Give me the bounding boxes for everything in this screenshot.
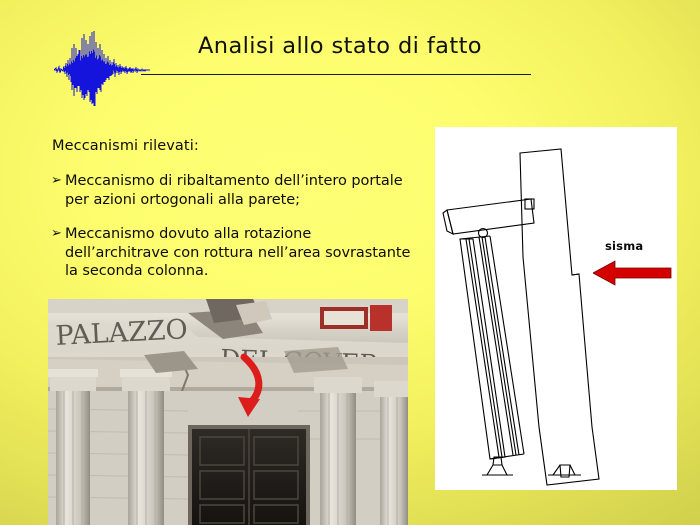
list-item: ➢ Meccanismo dovuto alla rotazione dell’… [52,225,412,281]
content-text-block: Meccanismi rilevati: ➢ Meccanismo di rib… [52,138,412,297]
lead-text: Meccanismi rilevati: [52,138,412,154]
list-item: ➢ Meccanismo di ribaltamento dell’intero… [52,172,412,209]
sisma-label: sisma [605,239,643,253]
bullet-arrow-icon: ➢ [51,172,62,191]
bullet-arrow-icon: ➢ [51,225,62,244]
page-title: Analisi allo stato di fatto [140,33,540,59]
list-item-label: Meccanismo di ribaltamento dell’intero p… [65,173,403,208]
slide-canvas: Analisi allo stato di fatto Meccanismi r… [0,0,700,525]
damaged-building-photo: PALAZZO DEL GOVER [48,299,408,525]
seismogram-icon [52,30,152,108]
list-item-label: Meccanismo dovuto alla rotazione dell’ar… [65,226,410,279]
collapse-mechanism-diagram [435,127,677,490]
title-divider [141,74,531,75]
sisma-arrow-icon [593,258,673,288]
